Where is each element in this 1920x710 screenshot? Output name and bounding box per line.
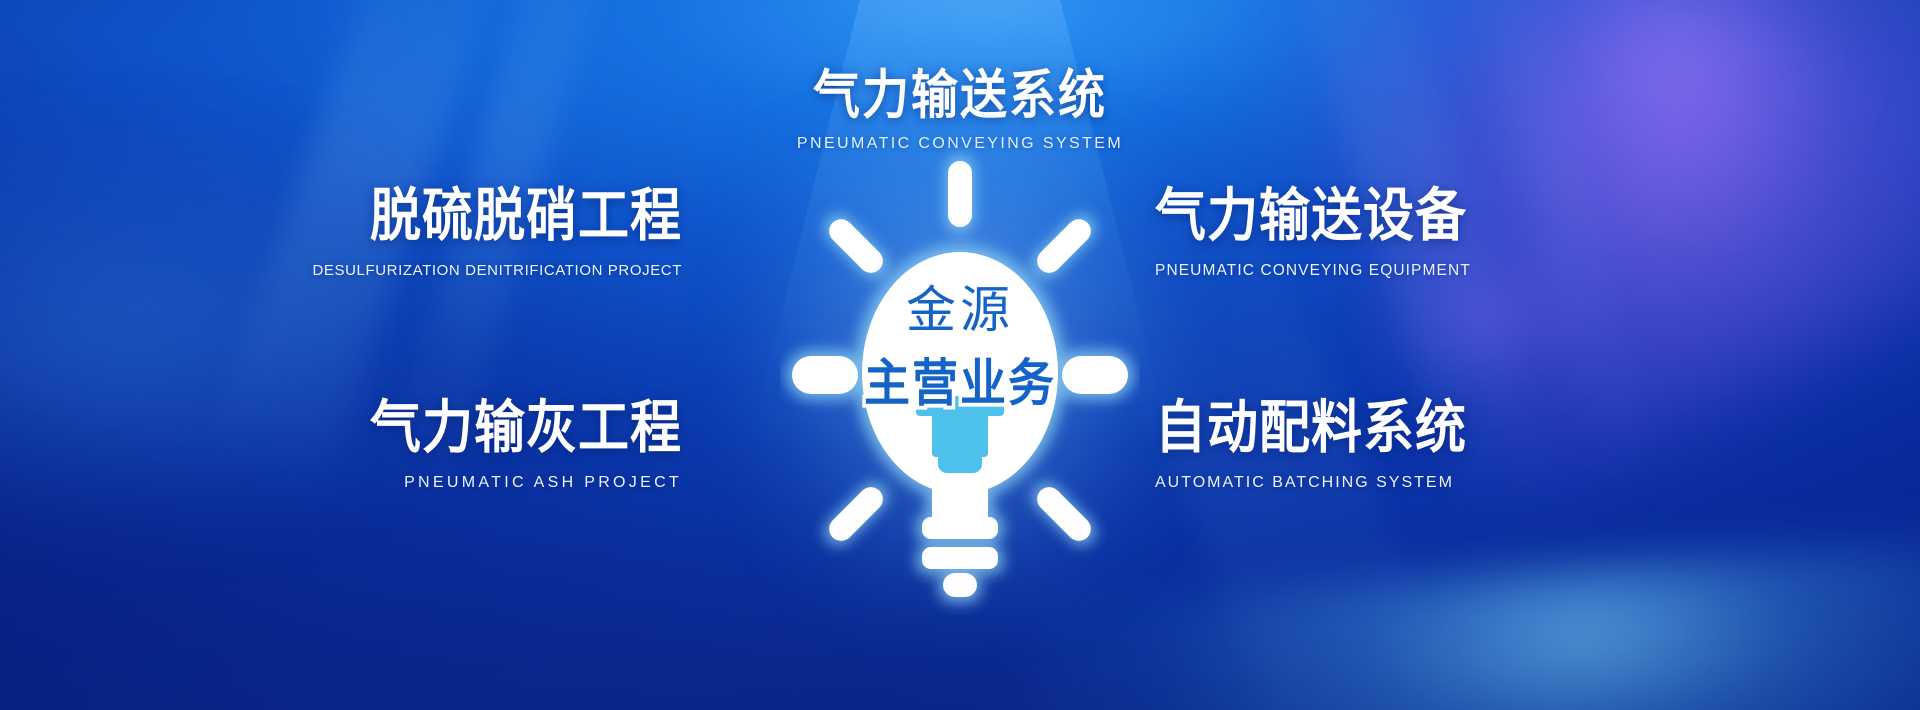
lightbulb-icon — [780, 145, 1140, 615]
service-item-pneumatic-conveying-equipment[interactable]: 气力输送设备 PNEUMATIC CONVEYING EQUIPMENT — [1155, 187, 1575, 280]
service-title-cn: 脱硫脱硝工程 — [262, 187, 682, 247]
service-title-en: PNEUMATIC ASH PROJECT — [262, 474, 682, 492]
service-title-cn: 自动配料系统 — [1155, 399, 1575, 459]
banner-content: 气力输送系统 PNEUMATIC CONVEYING SYSTEM 脱硫脱硝工程… — [0, 0, 1920, 710]
service-title-cn: 气力输送设备 — [1155, 187, 1575, 247]
service-title-cn: 气力输送系统 — [770, 68, 1150, 123]
service-title-cn: 气力输灰工程 — [262, 399, 682, 459]
service-title-en: DESULFURIZATION DENITRIFICATION PROJECT — [262, 262, 682, 279]
service-item-desulfurization-denitrification-project[interactable]: 脱硫脱硝工程 DESULFURIZATION DENITRIFICATION P… — [262, 187, 682, 279]
service-item-pneumatic-ash-project[interactable]: 气力输灰工程 PNEUMATIC ASH PROJECT — [262, 399, 682, 492]
hero-banner: 气力输送系统 PNEUMATIC CONVEYING SYSTEM 脱硫脱硝工程… — [0, 0, 1920, 710]
service-title-en: PNEUMATIC CONVEYING EQUIPMENT — [1155, 262, 1575, 280]
service-item-automatic-batching-system[interactable]: 自动配料系统 AUTOMATIC BATCHING SYSTEM — [1155, 399, 1575, 492]
service-title-en: AUTOMATIC BATCHING SYSTEM — [1155, 474, 1575, 492]
